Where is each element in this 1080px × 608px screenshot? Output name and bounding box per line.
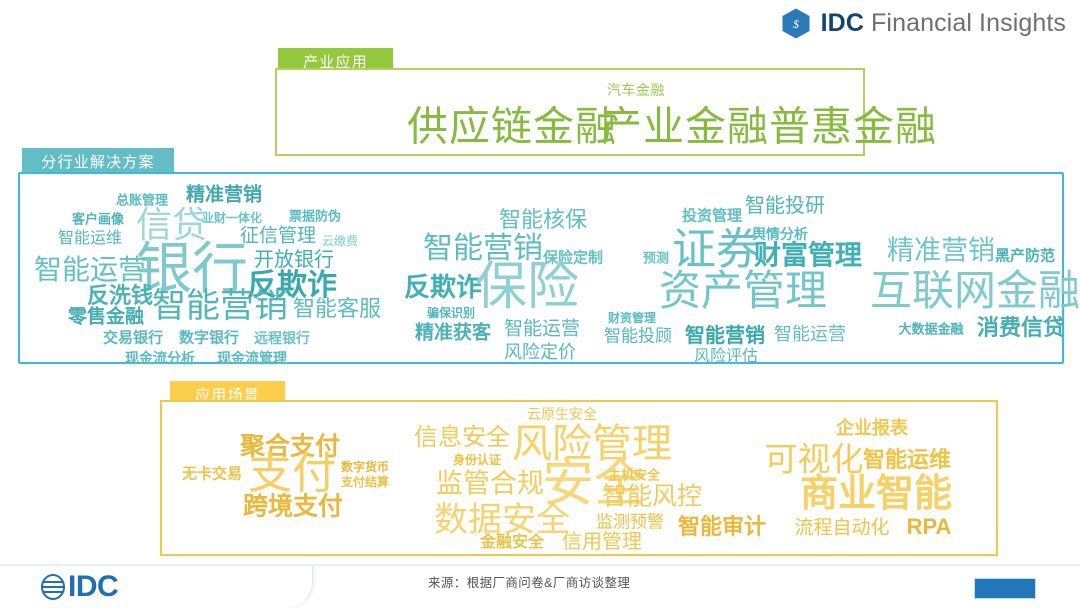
- solution-keyword: 远程银行: [254, 331, 310, 345]
- scenario-keyword: 监管合规: [436, 471, 544, 498]
- footer-accent-chip: [974, 578, 1036, 599]
- solution-keyword: 反洗钱: [87, 285, 153, 307]
- solution-keyword: 客户画像: [72, 213, 124, 226]
- brand-insights-text: Financial Insights: [871, 9, 1066, 37]
- solution-keyword: 精准营销: [887, 238, 995, 265]
- solution-keyword: 预测: [643, 252, 669, 265]
- solution-keyword: 现金流管理: [217, 351, 287, 365]
- solutions-word-cloud: 总账管理精准营销客户画像业财一体化票据防伪信贷征信管理智能运维云缴费银行智能运营…: [20, 174, 1062, 362]
- scenario-keyword: 身份认证: [453, 454, 501, 466]
- industry-word-cloud: 供应链金融产业金融汽车金融普惠金融: [277, 70, 863, 154]
- footer-brand: IDC: [40, 570, 118, 604]
- solution-keyword: 财资管理: [608, 312, 656, 324]
- solution-keyword: 风险评估: [694, 349, 758, 365]
- solution-keyword: 票据防伪: [289, 210, 341, 223]
- solution-keyword: 现金流分析: [125, 351, 195, 365]
- scenario-keyword: 企业报表: [836, 419, 908, 437]
- footer-idc-text: IDC: [68, 570, 118, 604]
- solution-keyword: 黑产防范: [995, 249, 1055, 264]
- solution-keyword: 智能核保: [499, 209, 587, 231]
- scenario-keyword: 数据安全: [434, 503, 570, 537]
- slide-canvas: $ IDC Financial Insights 产业应用 供应链金融产业金融汽…: [0, 0, 1080, 608]
- industry-word: 供应链金融: [407, 107, 617, 148]
- scenario-keyword: 支付: [248, 452, 336, 496]
- scenario-keyword: 智能审计: [678, 516, 766, 538]
- solution-keyword: 反欺诈: [404, 274, 482, 300]
- idc-globe-logo-icon: [40, 573, 66, 601]
- scenario-keyword: 可视化: [765, 443, 864, 476]
- industry-word: 普惠金融: [769, 107, 937, 148]
- scenario-keyword: 监测预警: [596, 514, 664, 531]
- solution-keyword: 业财一体化: [202, 212, 262, 224]
- solution-keyword: 云缴费: [322, 235, 358, 247]
- solution-keyword: 互联网金融: [870, 270, 1080, 312]
- solution-keyword: 智能投顾: [604, 328, 672, 345]
- solution-keyword: 征信管理: [240, 227, 316, 246]
- svg-text:$: $: [793, 17, 799, 31]
- source-note: 来源：根据厂商问卷&厂商访谈整理: [428, 572, 630, 591]
- solution-keyword: 交易银行: [103, 331, 163, 346]
- scenario-keyword: 主机安全: [608, 469, 660, 482]
- solution-keyword: 精准获客: [415, 324, 491, 343]
- solution-keyword: 财富管理: [754, 243, 862, 270]
- scenario-keyword: 数字货币: [341, 461, 389, 473]
- scenario-keyword: 支付结算: [341, 476, 389, 488]
- section-industry-solutions: 总账管理精准营销客户画像业财一体化票据防伪信贷征信管理智能运维云缴费银行智能运营…: [18, 172, 1064, 364]
- solution-keyword: 开放银行: [254, 250, 334, 270]
- scenario-keyword: RPA: [907, 516, 952, 538]
- brand-idc-text: IDC: [821, 9, 864, 37]
- solution-keyword: 智能客服: [293, 298, 381, 320]
- solution-keyword: 骗保识别: [427, 307, 475, 319]
- scenario-keyword: 商业智能: [800, 475, 952, 513]
- scenario-keyword: 信用管理: [562, 532, 642, 552]
- industry-word: 产业金融: [601, 107, 769, 148]
- scenario-keyword: 智能风控: [602, 485, 702, 510]
- scenario-keyword: 云原生安全: [527, 407, 597, 421]
- solution-keyword: 零售金融: [68, 308, 144, 327]
- solution-keyword: 智能营销: [685, 326, 765, 346]
- solution-keyword: 精准营销: [186, 186, 262, 205]
- section-application-scenarios: 聚合支付无卡交易支付数字货币支付结算跨境支付云原生安全信息安全身份认证风险管理监…: [160, 400, 998, 556]
- scenario-keyword: 金融安全: [480, 535, 544, 551]
- solution-keyword: 智能投研: [745, 196, 825, 216]
- solution-keyword: 智能营销: [152, 289, 288, 323]
- scenario-keyword: 信息安全: [414, 426, 510, 450]
- solution-keyword: 资产管理: [659, 270, 827, 312]
- section-industry-application: 供应链金融产业金融汽车金融普惠金融: [275, 68, 865, 156]
- solution-keyword: 消费信贷: [977, 317, 1065, 339]
- solution-keyword: 舆情分析: [752, 227, 808, 241]
- solution-keyword: 智能运营: [34, 256, 146, 284]
- scenario-keyword: 无卡交易: [182, 467, 242, 482]
- solution-keyword: 智能运营: [774, 325, 846, 343]
- solution-keyword: 保险: [475, 261, 579, 313]
- scenario-keyword: 流程自动化: [794, 519, 889, 538]
- idc-hex-logo-icon: $: [782, 8, 810, 39]
- tab-industry-solutions[interactable]: 分行业解决方案: [22, 148, 174, 174]
- solution-keyword: 投资管理: [682, 209, 742, 224]
- solution-keyword: 证券: [672, 228, 760, 272]
- solution-keyword: 数字银行: [179, 331, 239, 346]
- solution-keyword: 智能运维: [58, 231, 122, 247]
- industry-word: 汽车金融: [607, 83, 665, 97]
- solution-keyword: 大数据金融: [898, 323, 963, 336]
- scenario-keyword: 跨境支付: [243, 495, 343, 520]
- solution-keyword: 风险定价: [504, 343, 576, 361]
- scenarios-word-cloud: 聚合支付无卡交易支付数字货币支付结算跨境支付云原生安全信息安全身份认证风险管理监…: [162, 402, 996, 554]
- brand-header: $ IDC Financial Insights: [782, 8, 1066, 39]
- solution-keyword: 智能运营: [504, 320, 580, 339]
- brand-title: IDC Financial Insights: [821, 9, 1066, 38]
- scenario-keyword: 智能运维: [863, 449, 951, 471]
